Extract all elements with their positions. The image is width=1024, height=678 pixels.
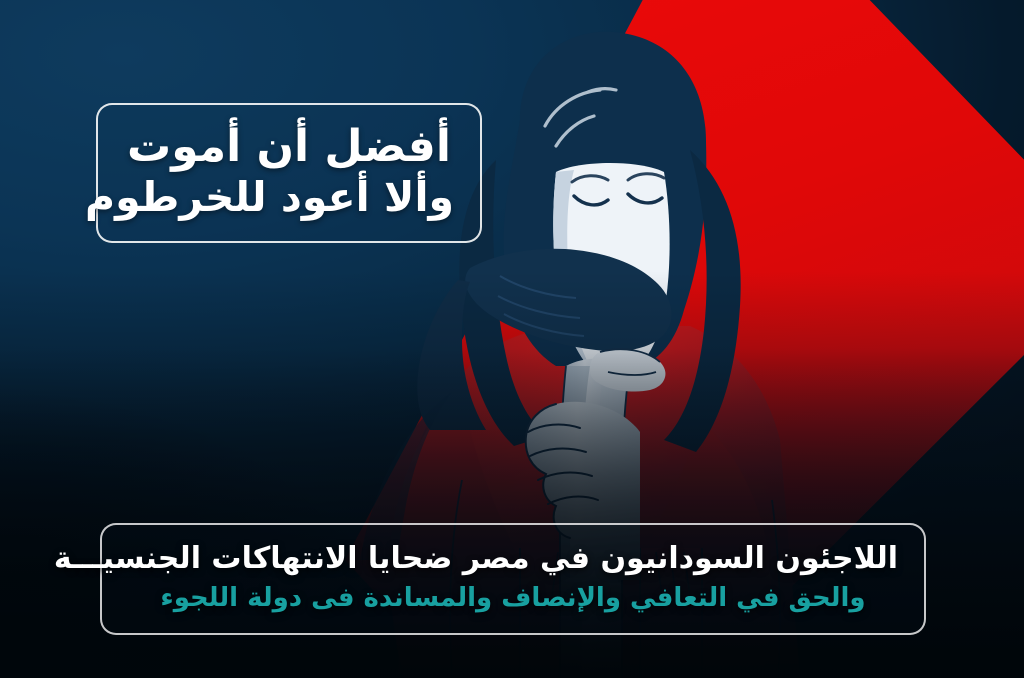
poster-canvas: أفضل أن أموت وألا أعود للخرطوم اللاجئون … [0, 0, 1024, 678]
headline-box: أفضل أن أموت وألا أعود للخرطوم [96, 103, 482, 243]
caption-box: اللاجئون السودانيون في مصر ضحايا الانتها… [100, 523, 926, 635]
headline-line-1: أفضل أن أموت [124, 121, 454, 173]
caption-line-2: والحق في التعافي والإنصاف والمساندة فى د… [128, 580, 898, 618]
headline-line-2: وألا أعود للخرطوم [124, 173, 454, 221]
caption-line-1: اللاجئون السودانيون في مصر ضحايا الانتها… [128, 539, 898, 580]
